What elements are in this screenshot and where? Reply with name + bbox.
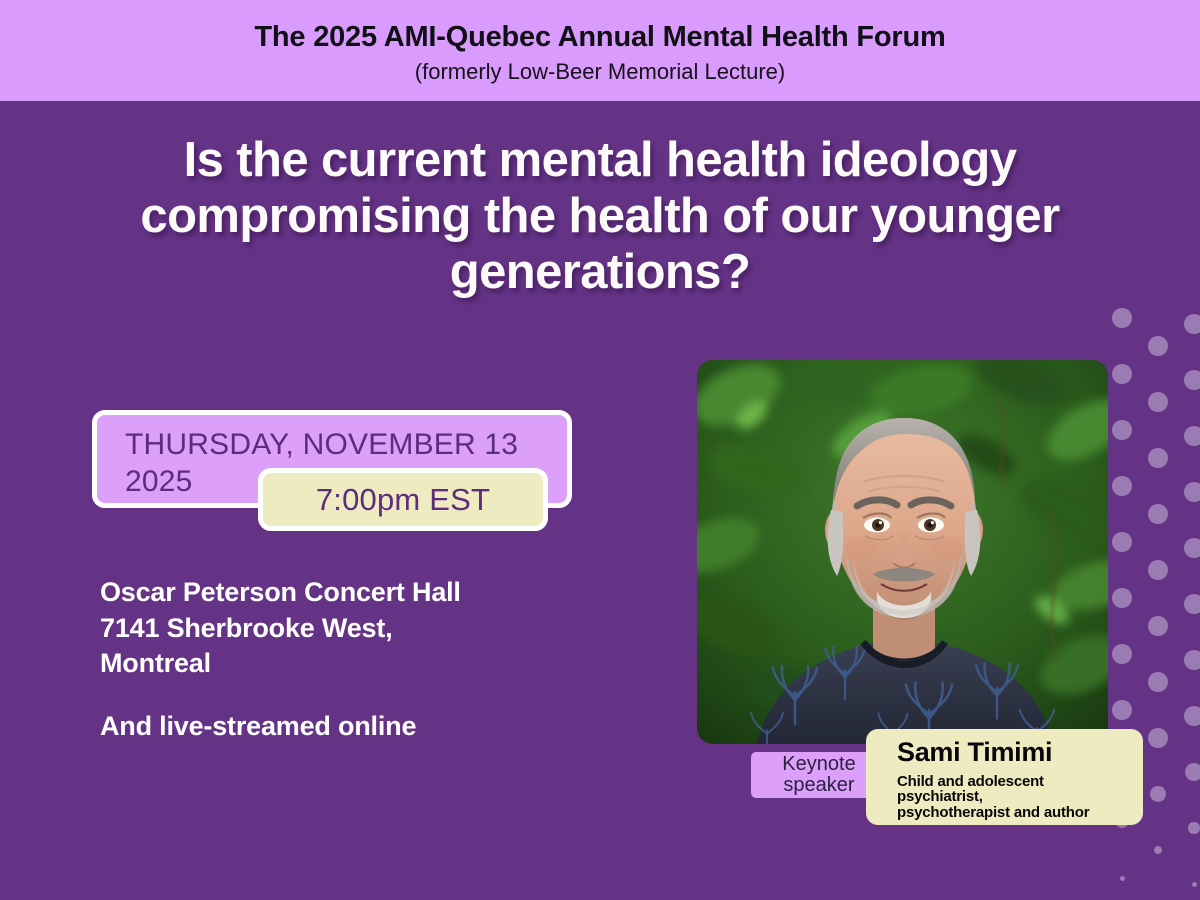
- decorative-dot: [1185, 763, 1200, 782]
- decorative-dot: [1120, 876, 1125, 881]
- speaker-info-card: Sami Timimi Child and adolescent psychia…: [866, 729, 1143, 825]
- decorative-dot: [1148, 560, 1168, 580]
- venue-name: Oscar Peterson Concert Hall: [100, 575, 620, 611]
- venue-address-line-2: Montreal: [100, 646, 620, 682]
- event-poster: The 2025 AMI-Quebec Annual Mental Health…: [0, 0, 1200, 900]
- decorative-dot: [1112, 532, 1132, 552]
- streaming-note: And live-streamed online: [100, 709, 620, 745]
- decorative-dot: [1184, 370, 1200, 390]
- speaker-name: Sami Timimi: [897, 738, 1143, 768]
- decorative-dot: [1188, 822, 1199, 833]
- forum-subtitle: (formerly Low-Beer Memorial Lecture): [415, 59, 785, 84]
- decorative-dot: [1148, 504, 1168, 524]
- decorative-dot: [1148, 728, 1168, 748]
- decorative-dot: [1184, 426, 1200, 446]
- speaker-photo: [697, 360, 1108, 744]
- decorative-dot: [1184, 314, 1200, 334]
- decorative-dot: [1184, 650, 1200, 670]
- decorative-dot: [1192, 882, 1197, 887]
- decorative-dot: [1112, 700, 1132, 720]
- decorative-dot: [1184, 538, 1200, 558]
- decorative-dot: [1148, 448, 1168, 468]
- decorative-dot: [1112, 308, 1132, 328]
- speaker-role-line-3: psychotherapist and author: [897, 805, 1143, 821]
- decorative-dot: [1184, 594, 1200, 614]
- decorative-dot: [1154, 846, 1162, 854]
- decorative-dot: [1112, 364, 1132, 384]
- decorative-dot: [1148, 616, 1168, 636]
- speaker-role: Child and adolescent psychiatrist, psych…: [897, 774, 1143, 821]
- decorative-dot: [1148, 392, 1168, 412]
- decorative-dot: [1184, 482, 1200, 502]
- page-title: Is the current mental health ideology co…: [100, 133, 1100, 301]
- decorative-dot: [1150, 786, 1166, 802]
- header-banner: The 2025 AMI-Quebec Annual Mental Health…: [0, 0, 1200, 101]
- forum-title: The 2025 AMI-Quebec Annual Mental Health…: [254, 21, 945, 54]
- decorative-dot: [1148, 336, 1168, 356]
- speaker-role-line-1: Child and adolescent: [897, 774, 1143, 790]
- venue-spacer: [100, 682, 620, 709]
- decorative-dot: [1112, 476, 1132, 496]
- speaker-role-line-2: psychiatrist,: [897, 789, 1143, 805]
- event-time-badge: 7:00pm EST: [258, 468, 548, 531]
- decorative-dot: [1148, 672, 1168, 692]
- decorative-dot: [1112, 420, 1132, 440]
- event-time-label: 7:00pm EST: [316, 482, 490, 518]
- decorative-dot: [1184, 706, 1200, 726]
- speaker-portrait-illustration: [697, 360, 1108, 744]
- decorative-dot: [1112, 644, 1132, 664]
- venue-address-line-1: 7141 Sherbrooke West,: [100, 611, 620, 647]
- decorative-dot: [1112, 588, 1132, 608]
- venue-block: Oscar Peterson Concert Hall 7141 Sherbro…: [100, 575, 620, 745]
